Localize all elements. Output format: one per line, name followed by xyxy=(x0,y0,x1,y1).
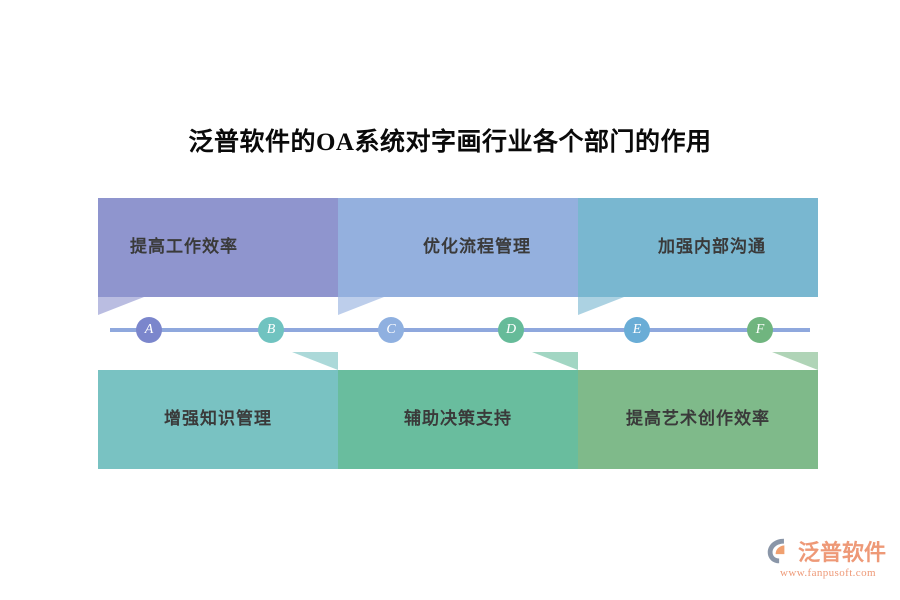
timeline-node-d[interactable]: D xyxy=(498,317,524,343)
timeline-node-a[interactable]: A xyxy=(136,317,162,343)
card-label: 提高艺术创作效率 xyxy=(578,409,818,429)
timeline-diagram: 提高工作效率 优化流程管理 加强内部沟通 A B C D E F xyxy=(0,0,900,600)
brand-name: 泛普软件 xyxy=(798,535,886,567)
card-improve-art-creation-efficiency[interactable]: 提高艺术创作效率 xyxy=(578,370,818,469)
timeline-node-label: B xyxy=(267,323,276,337)
card-tail-icon xyxy=(338,297,384,315)
timeline-node-label: D xyxy=(506,323,516,337)
card-tail-icon xyxy=(292,352,338,370)
card-improve-work-efficiency[interactable]: 提高工作效率 xyxy=(98,198,338,297)
card-label: 优化流程管理 xyxy=(338,237,578,257)
card-enhance-knowledge-management[interactable]: 增强知识管理 xyxy=(98,370,338,469)
fanpu-logo-icon xyxy=(766,537,794,565)
timeline-line xyxy=(110,328,810,332)
card-assist-decision-support[interactable]: 辅助决策支持 xyxy=(338,370,578,469)
brand-logo-row: 泛普软件 xyxy=(766,536,890,566)
timeline-node-f[interactable]: F xyxy=(747,317,773,343)
brand-url: www.fanpusoft.com xyxy=(766,567,890,579)
card-label: 加强内部沟通 xyxy=(578,237,818,257)
card-tail-icon xyxy=(98,297,144,315)
card-tail-icon xyxy=(578,297,624,315)
card-tail-icon xyxy=(772,352,818,370)
card-optimize-process-management[interactable]: 优化流程管理 xyxy=(338,198,578,297)
timeline-node-c[interactable]: C xyxy=(378,317,404,343)
brand-logo: 泛普软件 www.fanpusoft.com xyxy=(766,536,890,584)
timeline-node-e[interactable]: E xyxy=(624,317,650,343)
card-strengthen-internal-communication[interactable]: 加强内部沟通 xyxy=(578,198,818,297)
timeline-node-b[interactable]: B xyxy=(258,317,284,343)
card-label: 辅助决策支持 xyxy=(338,409,578,429)
infographic-canvas: 泛普软件的OA系统对字画行业各个部门的作用 提高工作效率 优化流程管理 加强内部… xyxy=(0,0,900,600)
card-label: 增强知识管理 xyxy=(98,409,338,429)
timeline-node-label: E xyxy=(633,323,642,337)
card-label: 提高工作效率 xyxy=(98,237,338,257)
card-tail-icon xyxy=(532,352,578,370)
timeline-node-label: C xyxy=(386,323,395,337)
timeline-node-label: F xyxy=(756,323,765,337)
timeline-node-label: A xyxy=(145,323,154,337)
